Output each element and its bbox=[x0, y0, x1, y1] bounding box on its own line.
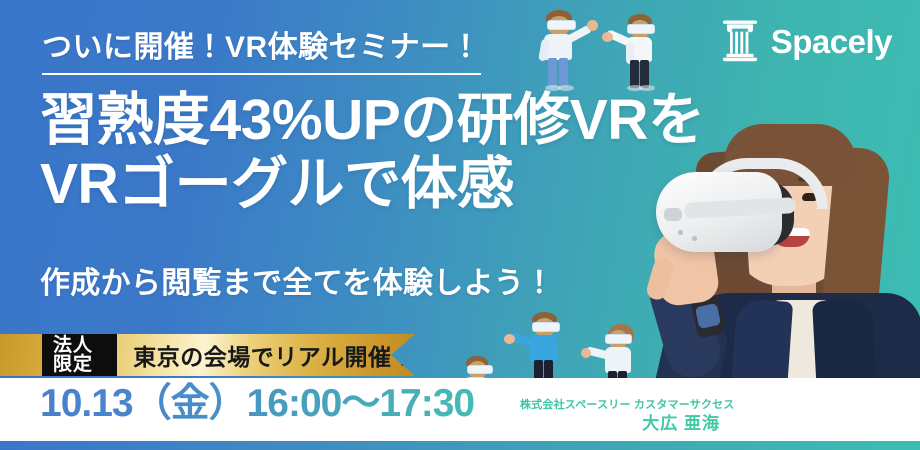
headline-line-1: 習熟度43%UPの研修VRを bbox=[40, 88, 704, 152]
footer-gradient-rule bbox=[0, 441, 920, 450]
venue-text: 東京の会場でリアル開催！ bbox=[133, 338, 415, 372]
top-figure-group bbox=[520, 0, 680, 92]
presenter-mouth bbox=[772, 228, 810, 247]
event-datetime: 10.13（金）16:00〜17:30 bbox=[40, 372, 474, 428]
presenter-eye-right bbox=[802, 193, 817, 201]
speaker-name: 大広 亜海 bbox=[520, 415, 720, 434]
seminar-banner: ついに開催！VR体験セミナー！ Spacely 習熟度43%UPの研修VRを V… bbox=[0, 0, 920, 450]
presenter-thumb bbox=[645, 256, 676, 302]
presenter-neck bbox=[772, 258, 816, 316]
speaker-credit: 株式会社スペースリー カスタマーサクセス 大広 亜海 bbox=[520, 398, 720, 434]
venue-ribbon: 法人限定 東京の会場でリアル開催！ bbox=[0, 334, 415, 376]
vr-person-icon bbox=[602, 12, 664, 92]
presenter-eyebrow-left bbox=[749, 179, 771, 185]
greek-column-icon bbox=[720, 18, 760, 64]
spacely-logo[interactable]: Spacely bbox=[720, 18, 892, 64]
presenter-eye-left bbox=[753, 194, 768, 202]
speaker-organization: 株式会社スペースリー カスタマーサクセス bbox=[520, 398, 720, 412]
presenter-forearm bbox=[644, 263, 726, 384]
presenter-hand bbox=[651, 226, 721, 308]
presenter-fringe bbox=[724, 124, 856, 186]
headline: 習熟度43%UPの研修VRを VRゴーグルで体感 bbox=[40, 88, 704, 217]
presenter-hair-right bbox=[820, 146, 891, 325]
headline-line-2: VRゴーグルで体感 bbox=[40, 152, 704, 216]
logo-text: Spacely bbox=[771, 25, 892, 58]
presenter-hair bbox=[706, 126, 866, 331]
presenter-eyebrow-right bbox=[798, 177, 820, 183]
smart-watch-icon bbox=[690, 294, 726, 339]
catch-copy: ついに開催！VR体験セミナー！ bbox=[42, 22, 481, 75]
vr-person-icon bbox=[532, 6, 598, 90]
presenter-face bbox=[732, 136, 848, 286]
sub-copy: 作成から閲覧まで全てを体験しよう！ bbox=[40, 258, 555, 302]
